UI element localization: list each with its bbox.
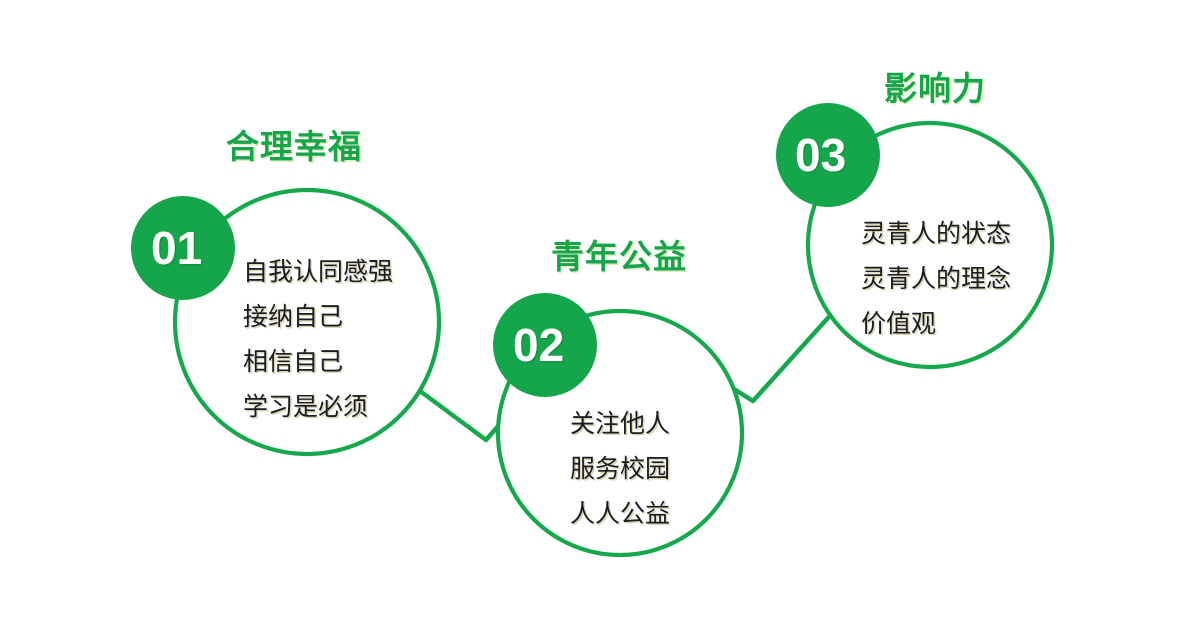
node-items-1: 自我认同感强 接纳自己 相信自己 学习是必须 bbox=[243, 250, 393, 430]
node-title-3: 影响力 bbox=[884, 72, 986, 105]
node-items-3: 灵青人的状态 灵青人的理念 价值观 bbox=[861, 212, 1011, 347]
node-title-1: 合理幸福 bbox=[226, 130, 362, 163]
node-item: 学习是必须 bbox=[243, 385, 393, 430]
node-item: 自我认同感强 bbox=[243, 250, 393, 295]
node-item: 接纳自己 bbox=[243, 295, 393, 340]
node-badge-number-2: 02 bbox=[513, 322, 564, 368]
node-item: 价值观 bbox=[861, 302, 1011, 347]
node-badge-number-3: 03 bbox=[795, 132, 846, 178]
node-title-2: 青年公益 bbox=[551, 240, 687, 273]
node-item: 服务校园 bbox=[545, 447, 695, 492]
node-item: 关注他人 bbox=[545, 402, 695, 447]
node-badge-number-1: 01 bbox=[151, 225, 202, 271]
node-item: 灵青人的理念 bbox=[861, 257, 1011, 302]
diagram-canvas: 合理幸福 01 自我认同感强 接纳自己 相信自己 学习是必须 青年公益 02 关… bbox=[0, 0, 1185, 633]
node-items-2: 关注他人 服务校园 人人公益 bbox=[545, 402, 695, 537]
node-item: 相信自己 bbox=[243, 340, 393, 385]
node-item: 灵青人的状态 bbox=[861, 212, 1011, 257]
node-item: 人人公益 bbox=[545, 492, 695, 537]
